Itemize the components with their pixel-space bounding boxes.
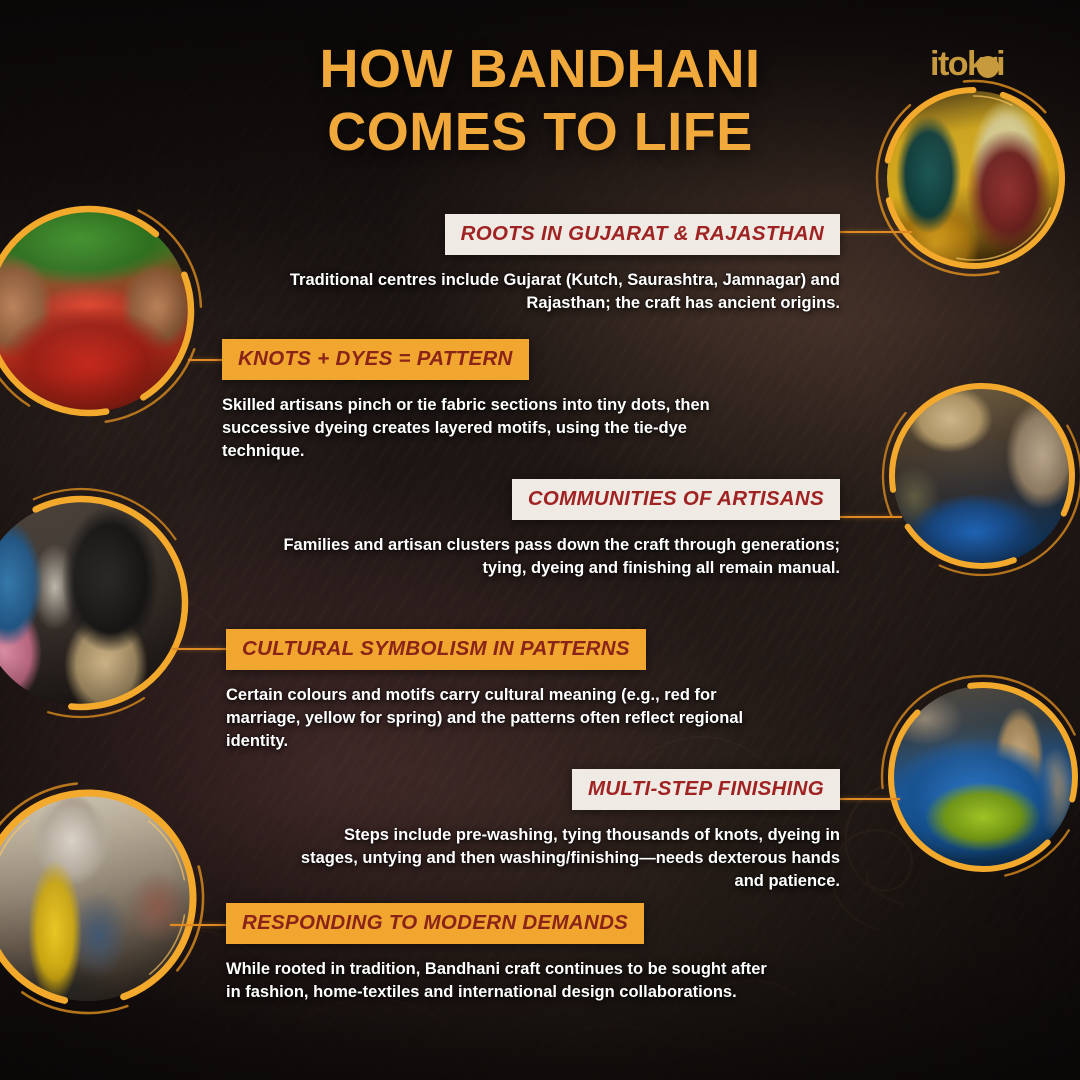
photo-disc — [0, 795, 191, 1002]
section-body-symbolism: Certain colours and motifs carry cultura… — [226, 684, 786, 752]
photo-dyer-blue-vat — [874, 368, 1080, 584]
section-body-finishing: Steps include pre-washing, tying thousan… — [300, 824, 840, 892]
photo-shade — [0, 501, 184, 706]
connector-line-finishing — [838, 798, 900, 800]
brand-logo[interactable]: itokri — [930, 42, 1040, 86]
section-symbolism: CULTURAL SYMBOLISM IN PATTERNS Certain c… — [226, 629, 786, 752]
section-heading-roots: ROOTS IN GUJARAT & RAJASTHAN — [445, 214, 840, 255]
section-roots: ROOTS IN GUJARAT & RAJASTHAN Traditional… — [280, 214, 840, 315]
section-body-communities: Families and artisan clusters pass down … — [280, 534, 840, 580]
section-communities: COMMUNITIES OF ARTISANS Families and art… — [280, 479, 840, 580]
section-heading-modern-demands: RESPONDING TO MODERN DEMANDS — [226, 903, 644, 944]
section-body-knots-dyes: Skilled artisans pinch or tie fabric sec… — [222, 394, 762, 462]
section-modern-demands: RESPONDING TO MODERN DEMANDS While roote… — [226, 903, 786, 1004]
photo-shade — [0, 210, 190, 412]
photo-disc — [0, 210, 190, 412]
photo-man-lifting-yellow-cloth — [0, 772, 214, 1024]
page-title-line-1: HOW BANDHANI — [320, 39, 761, 99]
photo-disc — [0, 501, 184, 706]
photo-shade — [892, 686, 1074, 868]
page-title-line-2: COMES TO LIFE — [0, 101, 1080, 164]
connector-line-communities — [838, 516, 902, 518]
connector-line-modern — [170, 924, 232, 926]
photo-shade — [0, 795, 191, 1002]
section-heading-finishing: MULTI-STEP FINISHING — [572, 769, 840, 810]
section-knots-dyes: KNOTS + DYES = PATTERN Skilled artisans … — [222, 339, 762, 462]
photo-shade — [893, 387, 1070, 564]
section-body-modern-demands: While rooted in tradition, Bandhani craf… — [226, 958, 786, 1004]
photo-blue-dye-vat — [872, 666, 1080, 888]
photo-seated-women-artisans — [0, 478, 206, 728]
brand-logo-dot-icon — [977, 56, 999, 78]
section-heading-knots-dyes: KNOTS + DYES = PATTERN — [222, 339, 529, 380]
page-title: HOW BANDHANI COMES TO LIFE — [0, 38, 1080, 163]
connector-line-symbolism — [172, 648, 232, 650]
section-heading-communities: COMMUNITIES OF ARTISANS — [512, 479, 840, 520]
connector-line-roots — [836, 231, 912, 233]
photo-disc — [893, 387, 1070, 564]
photo-hands-tying-red-cloth — [0, 188, 212, 434]
section-finishing: MULTI-STEP FINISHING Steps include pre-w… — [300, 769, 840, 892]
photo-disc — [892, 686, 1074, 868]
section-body-roots: Traditional centres include Gujarat (Kut… — [280, 269, 840, 315]
section-heading-symbolism: CULTURAL SYMBOLISM IN PATTERNS — [226, 629, 646, 670]
